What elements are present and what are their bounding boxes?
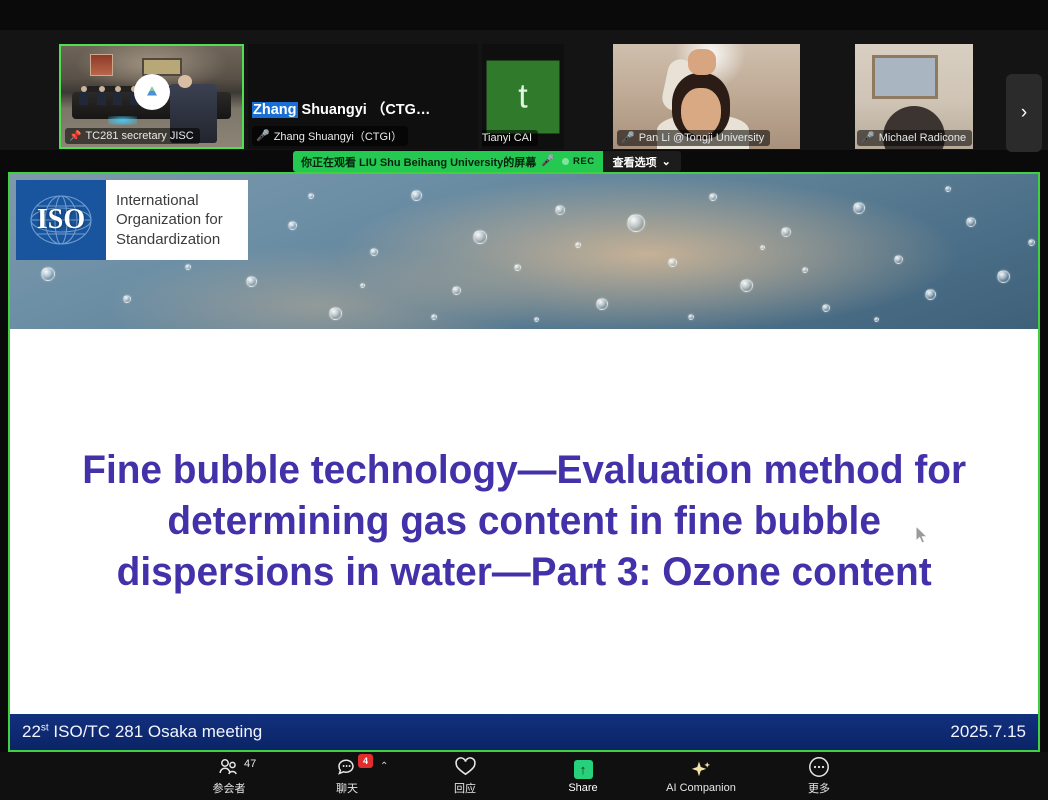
slide-footer-left: 22st ISO/TC 281 Osaka meeting — [22, 722, 262, 742]
meeting-ordinal: 22 — [22, 722, 41, 741]
screen-share-status-bar: 你正在观看 LIU Shu Beihang University的屏幕 🎤 RE… — [293, 151, 681, 172]
chevron-up-icon[interactable]: ⌃ — [380, 761, 388, 772]
meeting-ordinal-suffix: st — [41, 722, 49, 733]
iso-globe-mark: ISO — [16, 180, 106, 260]
toolbar-label: 参会者 — [213, 780, 246, 796]
toolbar-ai-companion-button[interactable]: AI Companion — [662, 754, 740, 798]
participant-name-chip: 🎤 Pan Li @Tongji University — [617, 130, 770, 146]
chat-icon: 4 ⌃ — [336, 757, 358, 778]
person-face — [681, 88, 721, 136]
participant-name-chip: 📌 TC281 secretary JISC — [65, 128, 200, 144]
toolbar-reactions-button[interactable]: 回应 — [426, 754, 504, 798]
recording-indicator: REC — [562, 156, 595, 167]
slide-banner-image: ISO International Organization for Stand… — [10, 174, 1038, 329]
room-attendee — [113, 91, 122, 105]
heart-icon — [454, 757, 477, 778]
pin-icon: 📌 — [69, 131, 81, 142]
participant-name: Tianyi CAI — [482, 132, 532, 144]
slide-title: Fine bubble technology—Evaluation method… — [55, 445, 992, 599]
record-label: REC — [573, 156, 595, 167]
view-options-label: 查看选项 — [613, 154, 657, 170]
slide-footer-date: 2025.7.15 — [950, 722, 1026, 742]
active-speaker-name: Zhang Shuangyi （CTG… — [252, 98, 430, 119]
participant-tile-tianyi-cai[interactable]: t 🎤 Tianyi CAI — [482, 44, 564, 149]
room-attendee — [97, 91, 106, 105]
participant-tile-zhang-shuangyi[interactable]: Zhang Shuangyi （CTG… 🎤 Zhang Shuangyi（CT… — [248, 44, 478, 149]
chat-unread-badge: 4 — [358, 754, 373, 768]
share-arrow-box: ↑ — [574, 760, 593, 779]
participants-icon: 47 — [218, 757, 240, 778]
toolbar-label: 更多 — [808, 780, 830, 796]
cloud-triangle-icon — [141, 81, 163, 103]
participant-name: Pan Li @Tongji University — [639, 132, 765, 144]
participant-tile-michael-radicone[interactable]: 🎤 Michael Radicone — [855, 44, 973, 149]
room-attendee — [79, 91, 88, 105]
meeting-toolbar: 47 参会者 4 ⌃ 聊天 回应 — [0, 752, 1048, 800]
iso-name-line-3: Standardization — [116, 230, 248, 249]
view-options-button[interactable]: 查看选项 ⌄ — [603, 151, 681, 172]
participant-filmstrip: 📌 TC281 secretary JISC Zhang Shuangyi （C… — [0, 30, 1048, 150]
iso-name-line-2: Organization for — [116, 210, 248, 229]
toolbar-participants-button[interactable]: 47 参会者 — [190, 754, 268, 798]
meeting-name: ISO/TC 281 Osaka meeting — [49, 722, 263, 741]
toolbar-share-button[interactable]: ↑ Share — [544, 754, 622, 798]
toolbar-chat-button[interactable]: 4 ⌃ 聊天 — [308, 754, 386, 798]
chevron-right-icon: › — [1021, 102, 1027, 124]
zoom-meeting-window: 📌 TC281 secretary JISC Zhang Shuangyi （C… — [0, 0, 1048, 800]
company-logo-badge — [134, 74, 170, 110]
speaker-name-highlighted: Zhang — [252, 102, 298, 118]
wall-picture-frame — [872, 55, 938, 99]
iso-wordmark: ISO — [37, 204, 85, 236]
sparkle-icon — [689, 759, 713, 780]
filmstrip-next-page-button[interactable]: › — [1006, 74, 1042, 152]
participant-name-chip: 🎤 Michael Radicone — [857, 130, 972, 146]
watching-screen-text: 你正在观看 LIU Shu Beihang University的屏幕 — [301, 154, 536, 170]
participants-count: 47 — [244, 758, 256, 770]
participant-name: Michael Radicone — [879, 132, 966, 144]
more-dots-icon — [808, 757, 830, 778]
room-artwork — [90, 54, 114, 76]
mic-muted-icon: 🎤 — [256, 131, 270, 142]
slide-footer: 22st ISO/TC 281 Osaka meeting 2025.7.15 — [10, 714, 1038, 750]
iso-full-name: International Organization for Standardi… — [106, 180, 248, 260]
mic-muted-icon: 🎤 — [541, 156, 555, 167]
iso-logo: ISO International Organization for Stand… — [16, 180, 248, 260]
person-hand — [688, 49, 716, 75]
share-screen-icon: ↑ — [574, 759, 593, 780]
participant-name-chip: 🎤 Tianyi CAI — [482, 130, 538, 146]
toolbar-label: Share — [568, 782, 597, 794]
mic-muted-icon: 🎤 — [621, 133, 635, 144]
speaker-name-rest: Shuangyi （CTG… — [298, 102, 431, 118]
mouse-cursor — [915, 525, 929, 545]
chevron-down-icon: ⌄ — [662, 155, 671, 168]
avatar: t — [487, 60, 560, 133]
avatar-letter: t — [518, 80, 527, 114]
participant-tile-tc281-secretary[interactable]: 📌 TC281 secretary JISC — [59, 44, 244, 149]
toolbar-more-button[interactable]: 更多 — [780, 754, 858, 798]
toolbar-label: 回应 — [454, 780, 476, 796]
mic-muted-icon: 🎤 — [861, 133, 875, 144]
toolbar-label: AI Companion — [666, 782, 736, 794]
participant-name: TC281 secretary JISC — [85, 130, 193, 142]
shared-screen-view[interactable]: ISO International Organization for Stand… — [8, 172, 1040, 752]
iso-name-line-1: International — [116, 191, 248, 210]
participant-name: Zhang Shuangyi（CTGI） — [274, 128, 402, 144]
toolbar-label: 聊天 — [336, 780, 358, 796]
room-projector-screen — [142, 58, 182, 76]
slide-content-area: Fine bubble technology—Evaluation method… — [10, 329, 1038, 714]
participant-tile-pan-li[interactable]: 🎤 Pan Li @Tongji University — [613, 44, 800, 149]
record-dot-icon — [562, 158, 569, 165]
watching-screen-notice: 你正在观看 LIU Shu Beihang University的屏幕 🎤 RE… — [293, 151, 603, 172]
participant-name-chip: 🎤 Zhang Shuangyi（CTGI） — [252, 126, 408, 146]
room-monitor-glow — [108, 116, 137, 125]
